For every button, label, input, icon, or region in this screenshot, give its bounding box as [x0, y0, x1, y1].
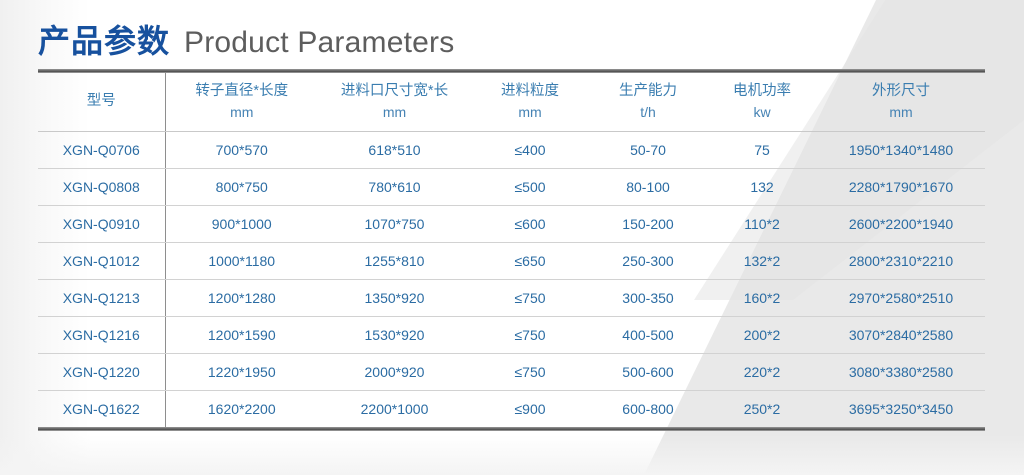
cell-model: XGN-Q0808	[38, 168, 165, 205]
cell-value: 1070*750	[318, 205, 471, 242]
table-row: XGN-Q16221620*22002200*1000≤900600-80025…	[38, 390, 985, 427]
cell-value: 150-200	[589, 205, 707, 242]
cell-model: XGN-Q1213	[38, 279, 165, 316]
cell-value: 3070*2840*2580	[817, 316, 985, 353]
spec-table: 型号转子直径*长度mm进料口尺寸宽*长mm进料粒度mm生产能力t/h电机功率kw…	[38, 73, 985, 427]
table-row: XGN-Q0910900*10001070*750≤600150-200110*…	[38, 205, 985, 242]
cell-value: ≤750	[471, 353, 589, 390]
cell-value: ≤400	[471, 131, 589, 168]
column-header-unit: kw	[707, 102, 817, 122]
column-header-3: 进料粒度mm	[471, 73, 589, 131]
column-header-label: 电机功率	[733, 83, 791, 99]
column-header-unit: mm	[318, 102, 471, 122]
column-header-unit: mm	[817, 102, 985, 122]
cell-value: 1620*2200	[165, 390, 318, 427]
column-header-unit: mm	[166, 102, 319, 122]
cell-value: 1200*1590	[165, 316, 318, 353]
column-header-5: 电机功率kw	[707, 73, 817, 131]
table-row: XGN-Q12131200*12801350*920≤750300-350160…	[38, 279, 985, 316]
column-header-label: 生产能力	[619, 83, 677, 99]
cell-value: 2600*2200*1940	[817, 205, 985, 242]
cell-value: 1530*920	[318, 316, 471, 353]
cell-value: ≤500	[471, 168, 589, 205]
column-header-6: 外形尺寸mm	[817, 73, 985, 131]
cell-value: 220*2	[707, 353, 817, 390]
cell-model: XGN-Q0910	[38, 205, 165, 242]
column-header-0: 型号	[38, 73, 165, 131]
column-header-label: 转子直径*长度	[195, 83, 288, 99]
cell-value: ≤650	[471, 242, 589, 279]
cell-model: XGN-Q1012	[38, 242, 165, 279]
cell-value: 3080*3380*2580	[817, 353, 985, 390]
cell-value: 300-350	[589, 279, 707, 316]
column-header-label: 进料粒度	[501, 83, 559, 99]
cell-value: 500-600	[589, 353, 707, 390]
table-head: 型号转子直径*长度mm进料口尺寸宽*长mm进料粒度mm生产能力t/h电机功率kw…	[38, 73, 985, 131]
cell-model: XGN-Q1622	[38, 390, 165, 427]
cell-value: 2800*2310*2210	[817, 242, 985, 279]
column-header-1: 转子直径*长度mm	[165, 73, 318, 131]
cell-value: 780*610	[318, 168, 471, 205]
table-row: XGN-Q0808800*750780*610≤50080-1001322280…	[38, 168, 985, 205]
cell-value: 110*2	[707, 205, 817, 242]
page-title: 产品参数 Product Parameters	[38, 16, 454, 62]
column-header-2: 进料口尺寸宽*长mm	[318, 73, 471, 131]
cell-value: 132	[707, 168, 817, 205]
column-header-4: 生产能力t/h	[589, 73, 707, 131]
table-body: XGN-Q0706700*570618*510≤40050-70751950*1…	[38, 131, 985, 427]
cell-value: 132*2	[707, 242, 817, 279]
cell-value: ≤750	[471, 279, 589, 316]
cell-value: ≤750	[471, 316, 589, 353]
table-row: XGN-Q10121000*11801255*810≤650250-300132…	[38, 242, 985, 279]
cell-value: 2200*1000	[318, 390, 471, 427]
table-header-row: 型号转子直径*长度mm进料口尺寸宽*长mm进料粒度mm生产能力t/h电机功率kw…	[38, 73, 985, 131]
cell-value: 1350*920	[318, 279, 471, 316]
cell-value: 2000*920	[318, 353, 471, 390]
cell-value: 1000*1180	[165, 242, 318, 279]
cell-value: 800*750	[165, 168, 318, 205]
table-row: XGN-Q12201220*19502000*920≤750500-600220…	[38, 353, 985, 390]
cell-value: 1950*1340*1480	[817, 131, 985, 168]
cell-value: ≤900	[471, 390, 589, 427]
spec-table-container: 型号转子直径*长度mm进料口尺寸宽*长mm进料粒度mm生产能力t/h电机功率kw…	[38, 69, 985, 431]
cell-value: 400-500	[589, 316, 707, 353]
table-row: XGN-Q0706700*570618*510≤40050-70751950*1…	[38, 131, 985, 168]
cell-value: 75	[707, 131, 817, 168]
cell-model: XGN-Q1220	[38, 353, 165, 390]
cell-value: 618*510	[318, 131, 471, 168]
cell-value: 1255*810	[318, 242, 471, 279]
cell-value: ≤600	[471, 205, 589, 242]
page-title-cn: 产品参数	[38, 16, 170, 62]
cell-model: XGN-Q0706	[38, 131, 165, 168]
column-header-label: 型号	[87, 93, 116, 109]
table-row: XGN-Q12161200*15901530*920≤750400-500200…	[38, 316, 985, 353]
cell-value: 600-800	[589, 390, 707, 427]
cell-value: 700*570	[165, 131, 318, 168]
cell-value: 900*1000	[165, 205, 318, 242]
cell-value: 2280*1790*1670	[817, 168, 985, 205]
cell-value: 50-70	[589, 131, 707, 168]
column-header-unit: mm	[471, 102, 589, 122]
cell-value: 250*2	[707, 390, 817, 427]
table-bottom-rule	[38, 427, 985, 431]
cell-value: 160*2	[707, 279, 817, 316]
column-header-unit: t/h	[589, 102, 707, 122]
cell-value: 1200*1280	[165, 279, 318, 316]
column-header-label: 进料口尺寸宽*长	[341, 83, 448, 99]
product-parameters-page: 产品参数 Product Parameters 型号转子直径*长度mm进料口尺寸…	[0, 0, 1024, 475]
cell-model: XGN-Q1216	[38, 316, 165, 353]
cell-value: 80-100	[589, 168, 707, 205]
page-title-en: Product Parameters	[184, 26, 454, 60]
column-header-label: 外形尺寸	[872, 83, 930, 99]
cell-value: 200*2	[707, 316, 817, 353]
cell-value: 1220*1950	[165, 353, 318, 390]
cell-value: 250-300	[589, 242, 707, 279]
cell-value: 3695*3250*3450	[817, 390, 985, 427]
cell-value: 2970*2580*2510	[817, 279, 985, 316]
background-wedge-bottom	[0, 435, 1024, 475]
